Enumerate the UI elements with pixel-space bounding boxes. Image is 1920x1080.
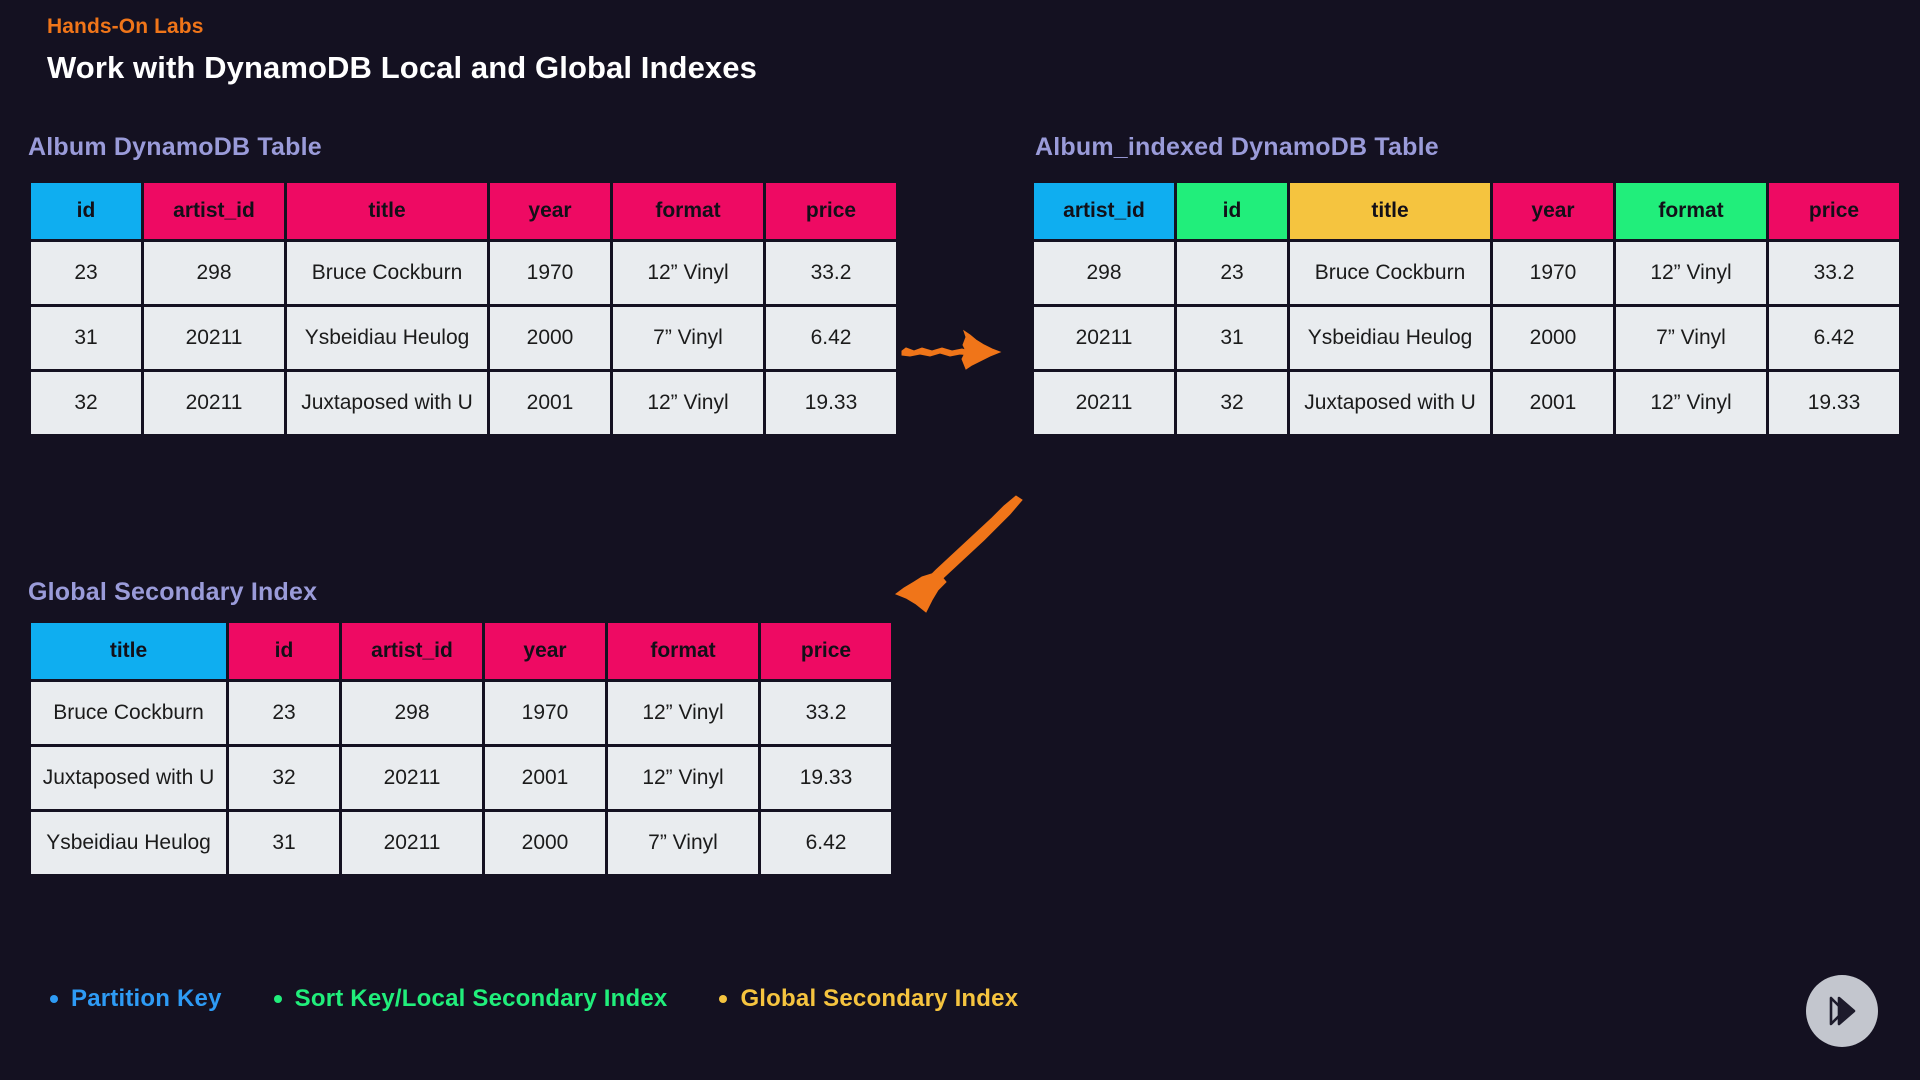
cell-format: 12” Vinyl: [1616, 242, 1766, 304]
cell-id: 31: [1177, 307, 1287, 369]
column-header-title[interactable]: title: [31, 623, 226, 679]
column-header-id[interactable]: id: [1177, 183, 1287, 239]
cell-format: 7” Vinyl: [1616, 307, 1766, 369]
table-header-row: artist_ididtitleyearformatprice: [1034, 183, 1899, 239]
cell-id: 23: [229, 682, 339, 744]
cell-id: 32: [1177, 372, 1287, 434]
cell-year: 2000: [1493, 307, 1613, 369]
legend: Partition Key Sort Key/Local Secondary I…: [50, 985, 1018, 1013]
legend-dot-icon: [50, 995, 58, 1003]
arrow-down-left-icon: [888, 490, 1028, 620]
cell-title: Ysbeidiau Heulog: [287, 307, 487, 369]
column-header-artist-id[interactable]: artist_id: [1034, 183, 1174, 239]
cell-year: 2001: [1493, 372, 1613, 434]
column-header-format[interactable]: format: [613, 183, 763, 239]
cell-year: 2000: [490, 307, 610, 369]
cell-price: 33.2: [766, 242, 896, 304]
album-table: idartist_idtitleyearformatprice23298Bruc…: [28, 180, 899, 437]
legend-label: Partition Key: [71, 985, 222, 1013]
legend-label: Global Secondary Index: [740, 985, 1018, 1013]
table-row: 2021131Ysbeidiau Heulog20007” Vinyl6.42: [1034, 307, 1899, 369]
cell-price: 6.42: [766, 307, 896, 369]
cell-year: 2000: [485, 812, 605, 874]
cell-year: 1970: [490, 242, 610, 304]
cell-artist-id: 20211: [1034, 372, 1174, 434]
legend-item-sort-key-lsi: Sort Key/Local Secondary Index: [274, 985, 668, 1013]
table-header-row: idartist_idtitleyearformatprice: [31, 183, 896, 239]
cell-price: 33.2: [1769, 242, 1899, 304]
cell-title: Ysbeidiau Heulog: [31, 812, 226, 874]
cell-year: 2001: [490, 372, 610, 434]
play-double-icon: [1822, 991, 1862, 1031]
cell-year: 1970: [485, 682, 605, 744]
column-header-price[interactable]: price: [1769, 183, 1899, 239]
cell-title: Juxtaposed with U: [31, 747, 226, 809]
cell-price: 19.33: [761, 747, 891, 809]
cell-id: 31: [229, 812, 339, 874]
table-header-row: titleidartist_idyearformatprice: [31, 623, 891, 679]
cell-title: Juxtaposed with U: [287, 372, 487, 434]
page-title: Work with DynamoDB Local and Global Inde…: [47, 49, 757, 86]
legend-label: Sort Key/Local Secondary Index: [295, 985, 668, 1013]
table-row: 3120211Ysbeidiau Heulog20007” Vinyl6.42: [31, 307, 896, 369]
cell-price: 33.2: [761, 682, 891, 744]
cell-year: 1970: [1493, 242, 1613, 304]
cell-format: 12” Vinyl: [613, 242, 763, 304]
cell-price: 19.33: [766, 372, 896, 434]
kicker-label: Hands-On Labs: [47, 14, 757, 39]
column-header-artist-id[interactable]: artist_id: [144, 183, 284, 239]
section-title-global-secondary-index: Global Secondary Index: [28, 578, 317, 607]
cell-id: 23: [31, 242, 141, 304]
cell-format: 7” Vinyl: [608, 812, 758, 874]
table-row: Ysbeidiau Heulog312021120007” Vinyl6.42: [31, 812, 891, 874]
cell-artist-id: 298: [144, 242, 284, 304]
column-header-year[interactable]: year: [1493, 183, 1613, 239]
table-row: 23298Bruce Cockburn197012” Vinyl33.2: [31, 242, 896, 304]
cell-price: 6.42: [1769, 307, 1899, 369]
cell-artist-id: 298: [342, 682, 482, 744]
column-header-title[interactable]: title: [287, 183, 487, 239]
cell-artist-id: 20211: [342, 812, 482, 874]
section-title-album-indexed: Album_indexed DynamoDB Table: [1035, 133, 1439, 162]
play-button-watermark[interactable]: [1806, 975, 1878, 1047]
cell-artist-id: 20211: [144, 372, 284, 434]
legend-item-partition-key: Partition Key: [50, 985, 222, 1013]
column-header-format[interactable]: format: [1616, 183, 1766, 239]
legend-dot-icon: [719, 995, 727, 1003]
column-header-year[interactable]: year: [490, 183, 610, 239]
cell-format: 7” Vinyl: [613, 307, 763, 369]
cell-id: 32: [229, 747, 339, 809]
cell-format: 12” Vinyl: [1616, 372, 1766, 434]
cell-format: 12” Vinyl: [613, 372, 763, 434]
table-row: Bruce Cockburn23298197012” Vinyl33.2: [31, 682, 891, 744]
cell-title: Juxtaposed with U: [1290, 372, 1490, 434]
cell-artist-id: 20211: [342, 747, 482, 809]
column-header-format[interactable]: format: [608, 623, 758, 679]
cell-format: 12” Vinyl: [608, 747, 758, 809]
cell-year: 2001: [485, 747, 605, 809]
column-header-artist-id[interactable]: artist_id: [342, 623, 482, 679]
cell-format: 12” Vinyl: [608, 682, 758, 744]
column-header-id[interactable]: id: [229, 623, 339, 679]
column-header-id[interactable]: id: [31, 183, 141, 239]
cell-title: Bruce Cockburn: [31, 682, 226, 744]
arrow-right-icon: [900, 325, 1010, 375]
column-header-year[interactable]: year: [485, 623, 605, 679]
cell-artist-id: 298: [1034, 242, 1174, 304]
column-header-price[interactable]: price: [761, 623, 891, 679]
global-secondary-index-table: titleidartist_idyearformatpriceBruce Coc…: [28, 620, 894, 877]
table-row: 3220211Juxtaposed with U200112” Vinyl19.…: [31, 372, 896, 434]
cell-price: 6.42: [761, 812, 891, 874]
cell-artist-id: 20211: [1034, 307, 1174, 369]
section-title-album: Album DynamoDB Table: [28, 133, 322, 162]
cell-title: Bruce Cockburn: [1290, 242, 1490, 304]
page-header: Hands-On Labs Work with DynamoDB Local a…: [47, 14, 757, 86]
cell-title: Ysbeidiau Heulog: [1290, 307, 1490, 369]
table-row: Juxtaposed with U3220211200112” Vinyl19.…: [31, 747, 891, 809]
cell-price: 19.33: [1769, 372, 1899, 434]
legend-item-global-secondary-index: Global Secondary Index: [719, 985, 1018, 1013]
legend-dot-icon: [274, 995, 282, 1003]
column-header-title[interactable]: title: [1290, 183, 1490, 239]
cell-id: 23: [1177, 242, 1287, 304]
table-row: 29823Bruce Cockburn197012” Vinyl33.2: [1034, 242, 1899, 304]
cell-artist-id: 20211: [144, 307, 284, 369]
album-indexed-table: artist_ididtitleyearformatprice29823Bruc…: [1031, 180, 1902, 437]
table-row: 2021132Juxtaposed with U200112” Vinyl19.…: [1034, 372, 1899, 434]
cell-id: 32: [31, 372, 141, 434]
cell-id: 31: [31, 307, 141, 369]
column-header-price[interactable]: price: [766, 183, 896, 239]
cell-title: Bruce Cockburn: [287, 242, 487, 304]
